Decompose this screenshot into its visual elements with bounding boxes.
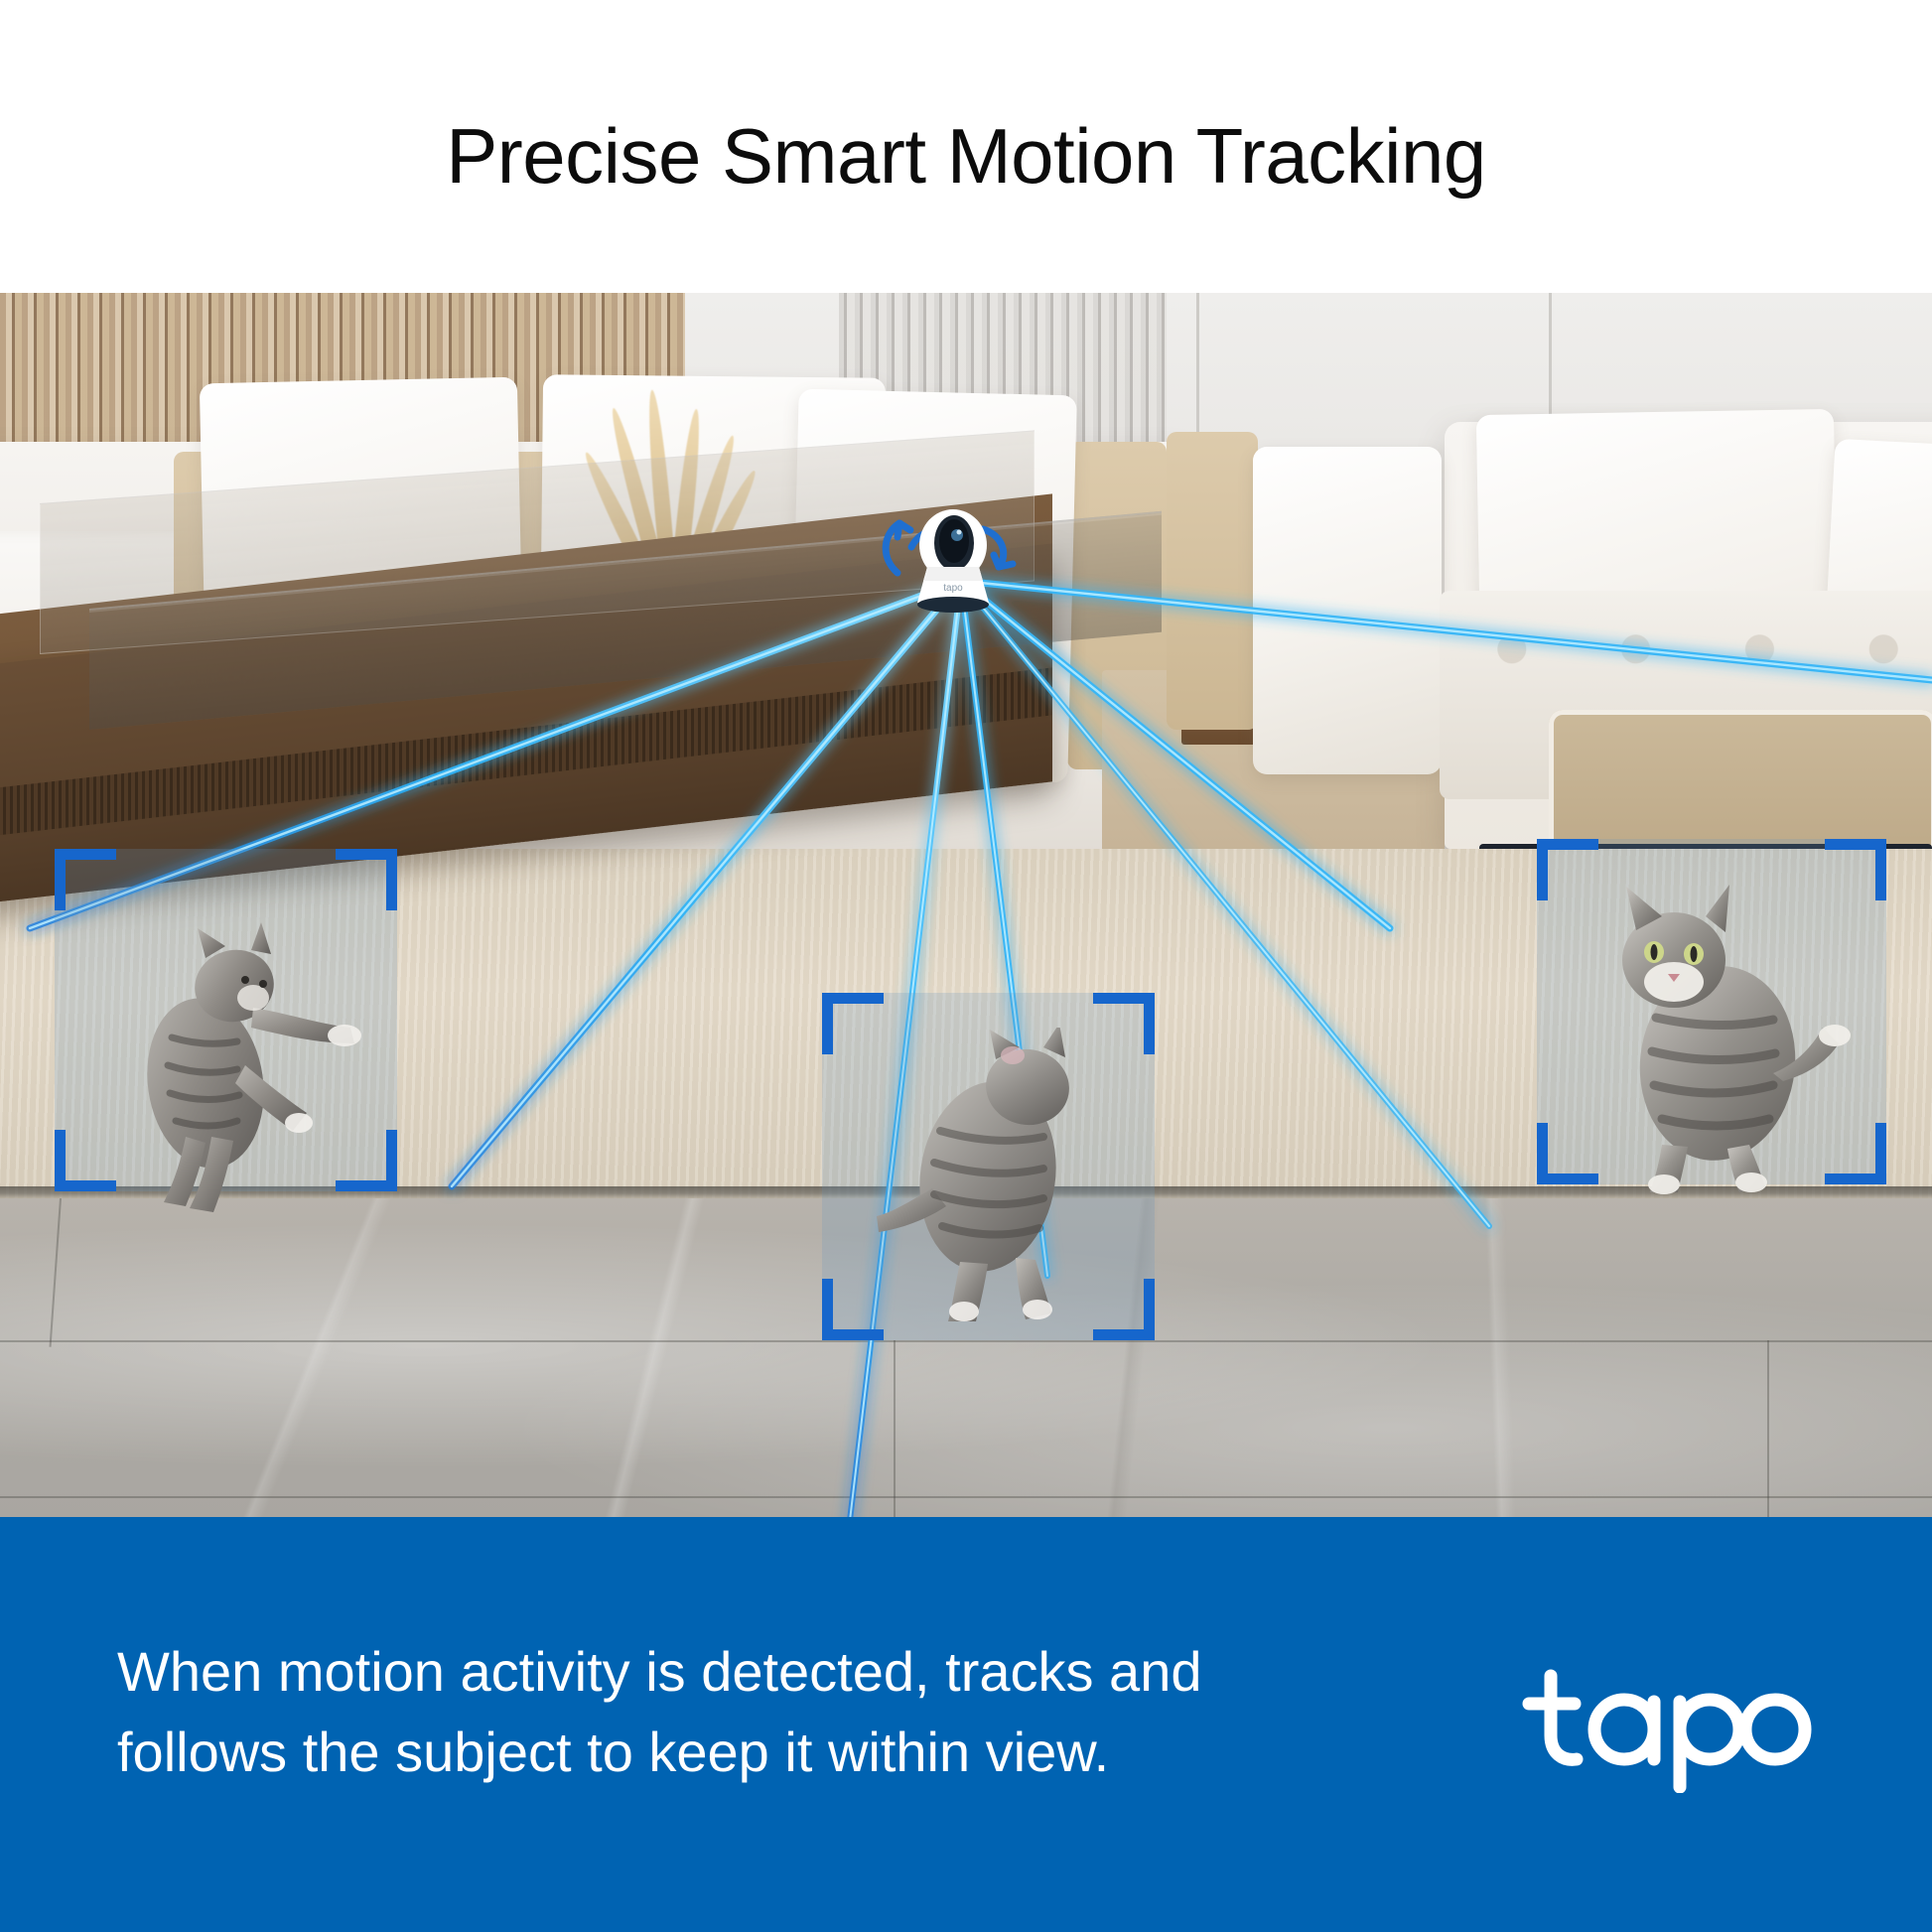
camera-base: tapo: [917, 567, 989, 613]
caption-line-2: follows the subject to keep it within vi…: [117, 1712, 1318, 1792]
tapo-camera-device[interactable]: tapo: [898, 501, 1008, 621]
tilt-arrow-vertical: [886, 523, 910, 573]
footer-band: When motion activity is detected, tracks…: [0, 1517, 1932, 1932]
sofa-backrest-beige: [1167, 432, 1258, 730]
header-band: Precise Smart Motion Tracking: [0, 0, 1932, 293]
cat-center: [849, 1028, 1137, 1325]
camera-brand-text: tapo: [943, 583, 963, 594]
cat-right: [1579, 879, 1876, 1196]
scene-photo: tapo: [0, 293, 1932, 1517]
sofa-right-side-panel: [1549, 710, 1932, 859]
footer-caption: When motion activity is detected, tracks…: [117, 1631, 1318, 1792]
tile-grout-line: [894, 1340, 896, 1517]
tapo-logo: [1515, 1664, 1813, 1793]
tile-grout-line: [0, 1496, 1932, 1498]
tile-grout-line: [1767, 1340, 1769, 1517]
marketing-page: Precise Smart Motion Tracking: [0, 0, 1932, 1932]
caption-line-1: When motion activity is detected, tracks…: [117, 1631, 1318, 1712]
cat-left: [94, 889, 392, 1216]
sofa-cushion: [1253, 447, 1442, 774]
tile-grout-line: [0, 1340, 1932, 1342]
page-title: Precise Smart Motion Tracking: [446, 117, 1486, 195]
